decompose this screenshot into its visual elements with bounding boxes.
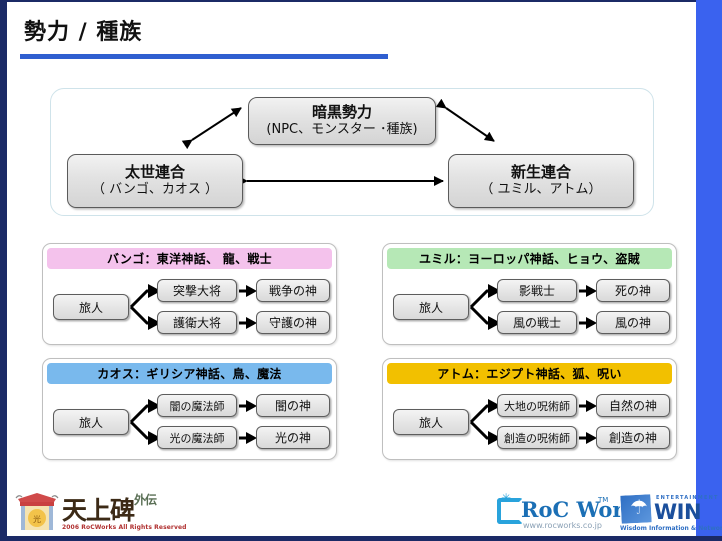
faction-mid-ymir-1[interactable]: 風の戦士	[497, 311, 577, 334]
faction-mid-chaos-1[interactable]: 光の魔法師	[157, 426, 237, 449]
faction-mid-bango-1[interactable]: 護衛大将	[157, 311, 237, 334]
alliance-dark-detail: (NPC、モンスター ･種族)	[266, 122, 417, 138]
faction-panel-chaos: カオス：ギリシア神話、鳥、魔法 旅人 闇の魔法師 光の魔法師 闇の神 光の神	[42, 358, 337, 460]
faction-end-chaos-1[interactable]: 光の神	[256, 426, 330, 449]
faction-end-ymir-1[interactable]: 風の神	[596, 311, 670, 334]
pavilion-icon: 光	[14, 489, 60, 533]
svg-text:光: 光	[33, 514, 41, 524]
faction-panel-atom: アトム：エジプト神話、狐、呪い 旅人 大地の呪術師 創造の呪術師 自然の神 創造…	[382, 358, 677, 460]
game-logo-title: 天上碑外伝	[62, 491, 156, 527]
faction-mid-atom-1[interactable]: 創造の呪術師	[497, 426, 577, 449]
faction-mid-bango-0[interactable]: 突撃大将	[157, 279, 237, 302]
faction-mid-ymir-0[interactable]: 影戦士	[497, 279, 577, 302]
alliance-dark-name: 暗黒勢力	[312, 104, 372, 121]
frame-top-edge	[0, 0, 722, 2]
faction-root-ymir[interactable]: 旅人	[393, 294, 469, 320]
faction-end-bango-1[interactable]: 守護の神	[256, 311, 330, 334]
faction-panel-ymir: ユミル：ヨーロッパ神話、ヒョウ、盗賊 旅人 影戦士 風の戦士 死の神 風の神	[382, 243, 677, 345]
alliance-container: 暗黒勢力 (NPC、モンスター ･種族) 太世連合 （ バンゴ、カオス ） 新生…	[50, 88, 654, 216]
game-logo-main: 天上碑	[62, 496, 134, 525]
frame-right-edge	[696, 0, 722, 541]
frame-left-edge	[0, 0, 7, 541]
faction-mid-atom-0[interactable]: 大地の呪術師	[497, 394, 577, 417]
rocworks-logo[interactable]: ✳ RoC Works TM www.rocworks.co.jp	[497, 492, 615, 536]
rocworks-url: www.rocworks.co.jp	[523, 521, 602, 530]
page-title: 勢力 / 種族	[24, 14, 142, 46]
win-logo[interactable]: ☂ ENTERTAINMENT WIN Wisdom Information &…	[620, 492, 706, 536]
alliance-old-detail: （ バンゴ、カオス ）	[92, 182, 218, 198]
alliance-box-dark[interactable]: 暗黒勢力 (NPC、モンスター ･種族)	[248, 97, 436, 145]
spark-icon: ✳	[501, 492, 511, 504]
faction-root-atom[interactable]: 旅人	[393, 409, 469, 435]
win-tagline: Wisdom Information & Network	[620, 525, 722, 532]
faction-end-atom-1[interactable]: 創造の神	[596, 426, 670, 449]
title-underline	[20, 54, 388, 59]
alliance-new-name: 新生連合	[511, 164, 571, 181]
faction-end-bango-0[interactable]: 戦争の神	[256, 279, 330, 302]
faction-mid-chaos-0[interactable]: 闇の魔法師	[157, 394, 237, 417]
trademark-icon: TM	[598, 496, 608, 504]
faction-root-chaos[interactable]: 旅人	[53, 409, 129, 435]
copyright-text: 2006 RoCWorks All Rights Reserved	[62, 524, 187, 531]
faction-panel-bango: バンゴ：東洋神話、 龍、戦士 旅人 突撃大将 護衛大将 戦争の神 守護の神	[42, 243, 337, 345]
faction-end-ymir-0[interactable]: 死の神	[596, 279, 670, 302]
alliance-old-name: 太世連合	[125, 164, 185, 181]
faction-end-atom-0[interactable]: 自然の神	[596, 394, 670, 417]
slide-canvas: 勢力 / 種族 暗黒勢力 (NPC、モンスター ･種族) 太	[0, 0, 722, 541]
faction-end-chaos-0[interactable]: 闇の神	[256, 394, 330, 417]
win-name: WIN	[654, 500, 701, 524]
alliance-new-detail: （ ユミル、アトム）	[480, 182, 601, 198]
faction-root-bango[interactable]: 旅人	[53, 294, 129, 320]
alliance-box-new[interactable]: 新生連合 （ ユミル、アトム）	[448, 154, 634, 208]
game-logo: 光 天上碑外伝 2006 RoCWorks All Rights Reserve…	[14, 487, 162, 537]
alliance-box-old[interactable]: 太世連合 （ バンゴ、カオス ）	[67, 154, 243, 208]
person-icon: ☂	[630, 497, 648, 517]
game-logo-sub: 外伝	[134, 493, 156, 507]
